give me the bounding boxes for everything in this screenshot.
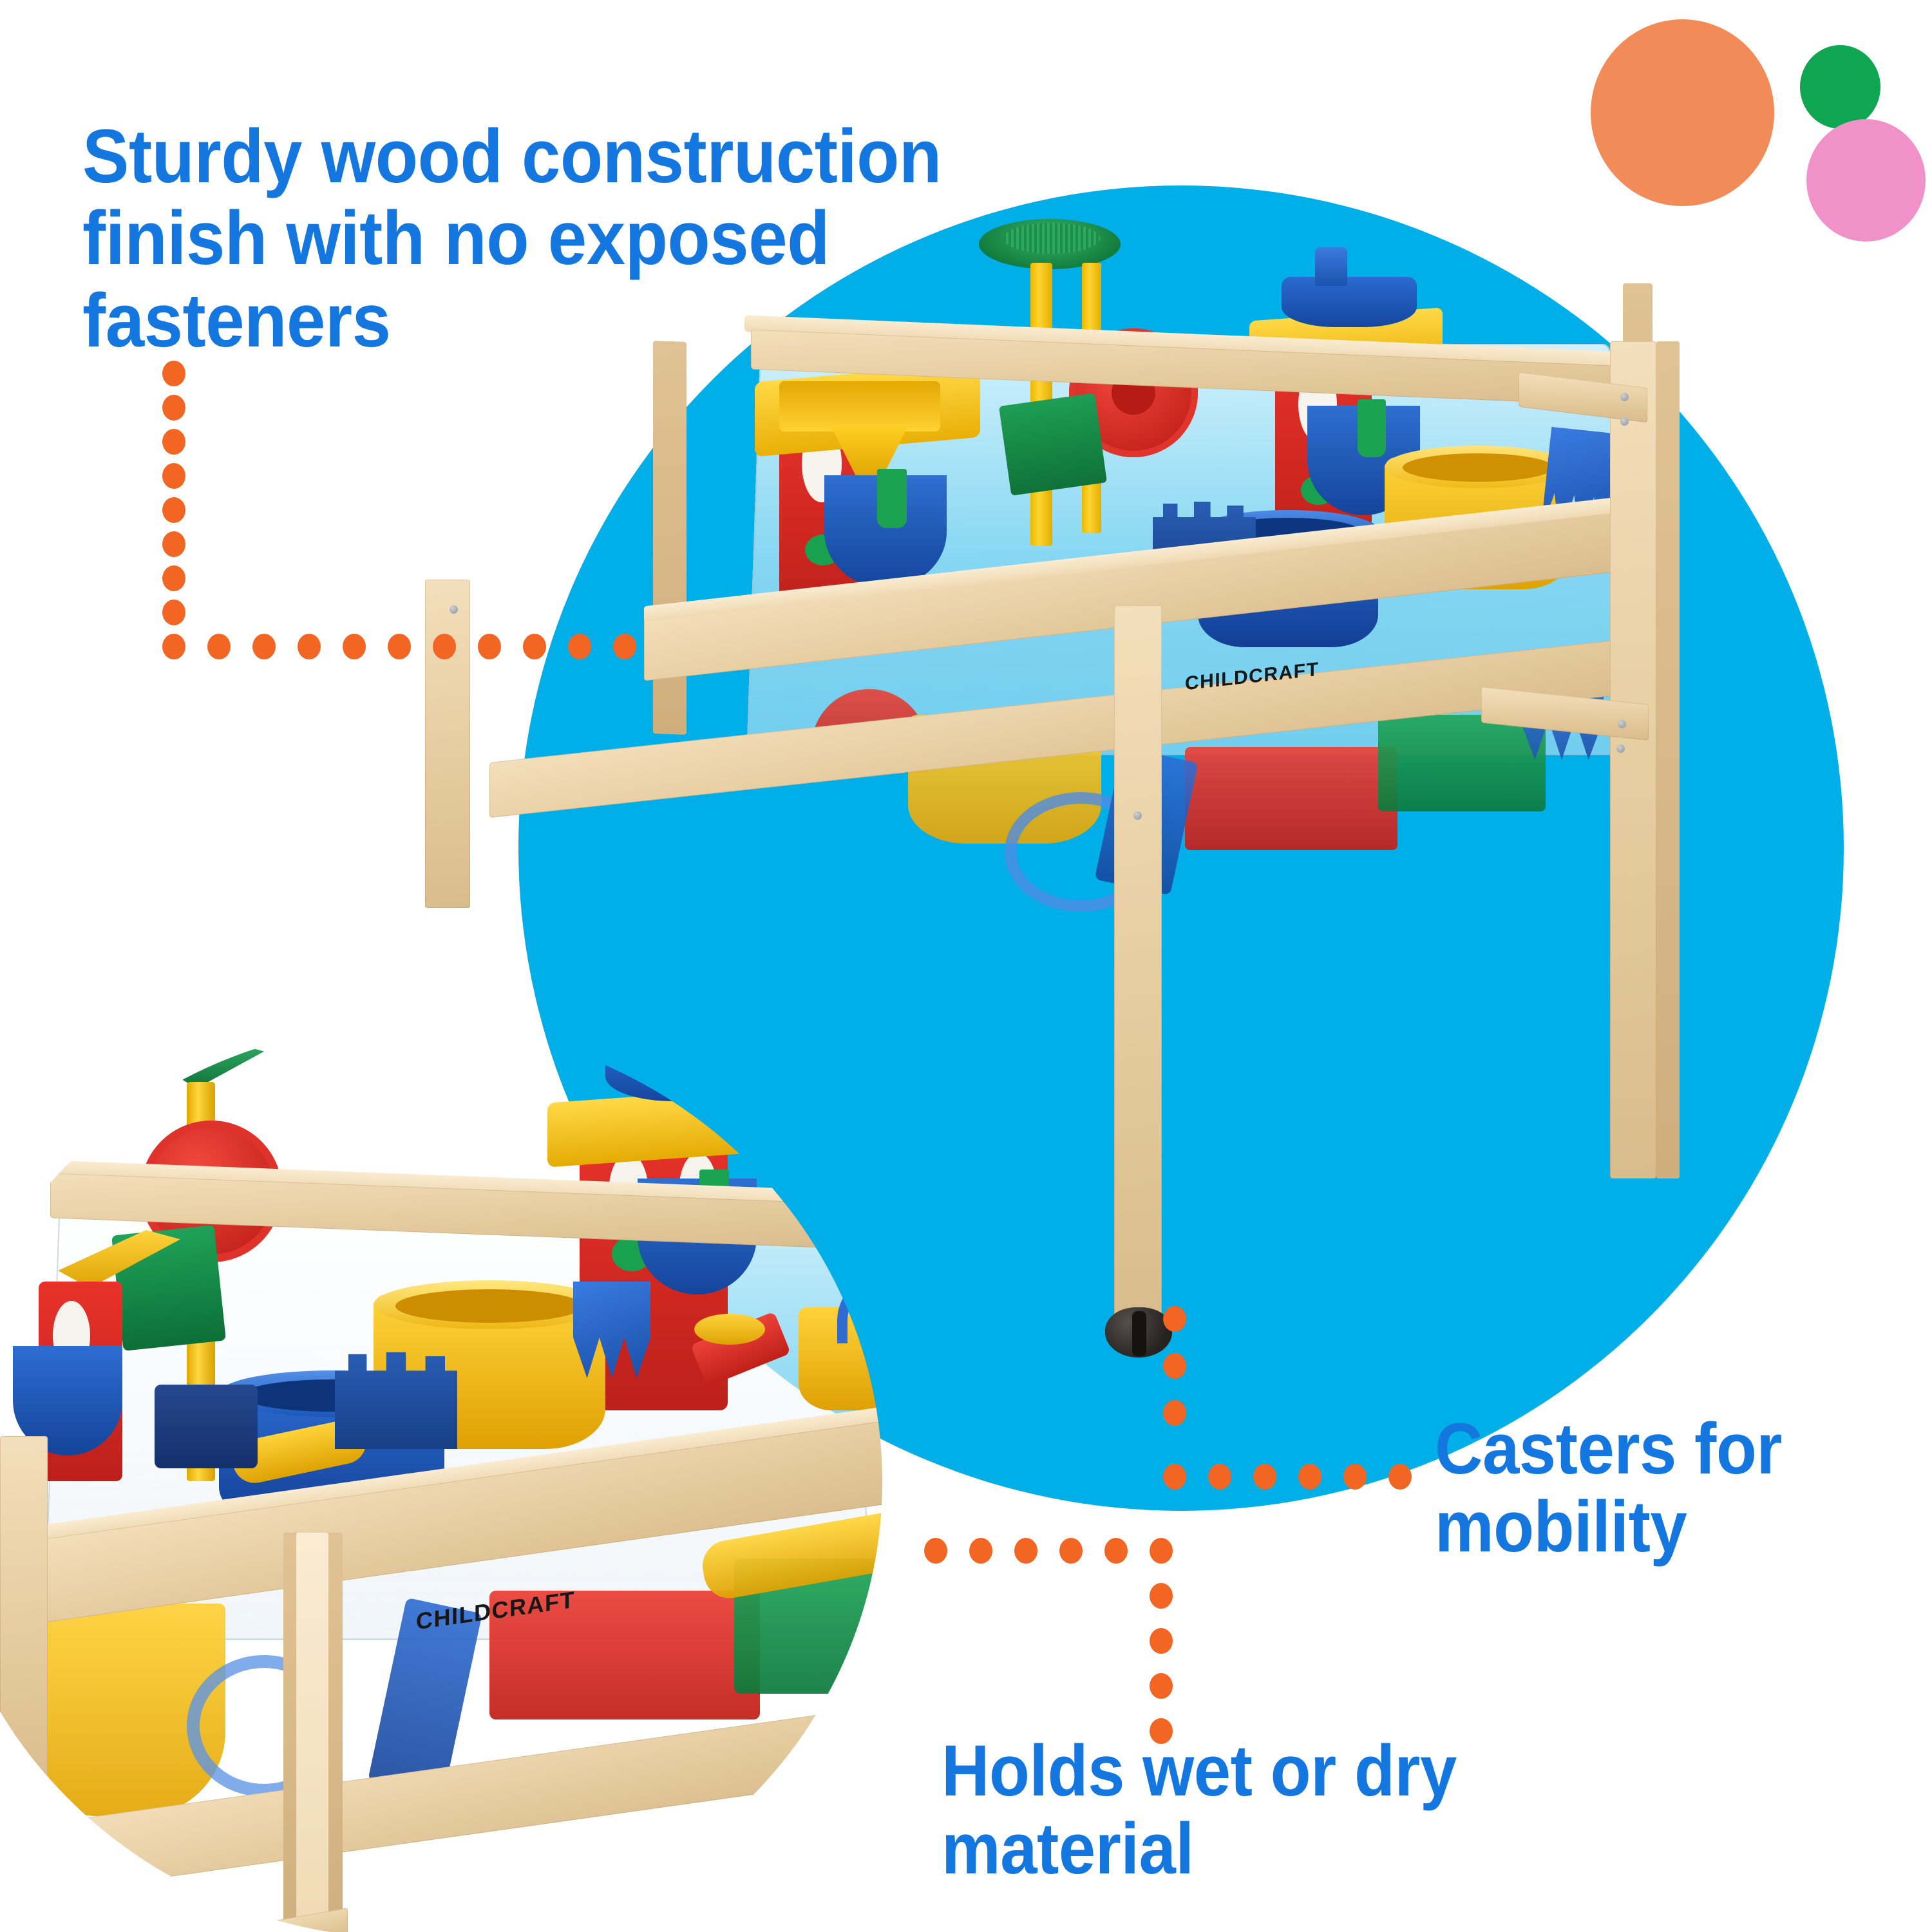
connector-dot-sturdy xyxy=(162,600,185,625)
caster-axle-front xyxy=(1132,1311,1146,1356)
inset-navy-gear xyxy=(155,1385,258,1468)
connector-dot-holds xyxy=(1014,1538,1037,1564)
inset-blue-rake xyxy=(573,1282,650,1378)
table-leg-right-rear xyxy=(1656,341,1680,1179)
inset-green-chute xyxy=(167,1043,264,1088)
toy-yellow-pail-inner xyxy=(1403,453,1553,482)
connector-dot-sturdy xyxy=(433,634,456,659)
inset-leg-left xyxy=(0,1436,48,1797)
toy-blue-boat xyxy=(1282,277,1417,327)
screw-lower-right xyxy=(1618,720,1626,728)
inset-yellow-lid xyxy=(694,1314,765,1345)
connector-dot-sturdy xyxy=(162,429,185,455)
infographic-canvas: CHILDCRAFT xyxy=(0,0,1932,1932)
connector-dot-holds xyxy=(1059,1538,1083,1564)
screw-front-center xyxy=(1133,811,1142,820)
connector-dot-sturdy xyxy=(343,634,366,659)
connector-dot-sturdy xyxy=(162,361,185,386)
connector-dot-casters xyxy=(1388,1464,1412,1490)
connector-dot-casters xyxy=(1208,1464,1231,1490)
decorative-circle-green xyxy=(1800,45,1880,129)
toy-green-sifter-mesh xyxy=(1003,223,1100,254)
screw-mid-right xyxy=(1620,417,1629,426)
table-leg-front-right xyxy=(1610,341,1656,1179)
connector-dot-sturdy xyxy=(298,634,321,659)
connector-dot-sturdy xyxy=(523,634,546,659)
connector-dot-sturdy xyxy=(162,565,185,591)
inset-leg-corner-face xyxy=(296,1533,328,1932)
toy-green-spout-right xyxy=(1358,399,1386,457)
connector-dot-casters xyxy=(1163,1353,1186,1379)
connector-dot-sturdy xyxy=(568,634,591,659)
inset-blue-castle-mold xyxy=(335,1346,457,1449)
connector-dot-casters xyxy=(1163,1306,1186,1332)
table-leg-front-left xyxy=(425,580,470,908)
toy-blue-boat-funnel xyxy=(1315,247,1347,286)
connector-dot-sturdy xyxy=(162,497,185,523)
connector-dot-sturdy xyxy=(388,634,411,659)
connector-dot-holds xyxy=(1150,1583,1173,1609)
callout-sturdy-wood-construction: Sturdy wood construction finish with no … xyxy=(82,116,971,362)
connector-dot-holds xyxy=(969,1538,992,1564)
connector-dot-casters xyxy=(1163,1400,1186,1426)
connector-dot-sturdy xyxy=(162,463,185,489)
toy-green-paddle xyxy=(999,393,1107,496)
toy-red-brick-lower xyxy=(1185,747,1397,850)
connector-dot-holds xyxy=(924,1538,947,1564)
inset-yellow-pail-inner xyxy=(395,1289,583,1323)
screw-front-left xyxy=(450,605,458,614)
connector-dot-casters xyxy=(1163,1464,1186,1490)
decorative-circle-orange xyxy=(1591,19,1774,206)
connector-dot-sturdy xyxy=(162,634,185,659)
toy-green-mold-lower xyxy=(1378,715,1546,811)
connector-dot-sturdy xyxy=(613,634,636,659)
connector-dot-sturdy xyxy=(162,395,185,421)
connector-dot-sturdy xyxy=(252,634,276,659)
connector-dot-holds xyxy=(1150,1628,1173,1654)
connector-dot-holds xyxy=(1150,1673,1173,1699)
toy-yellow-hopper-basin xyxy=(779,381,940,431)
connector-dot-sturdy xyxy=(207,634,231,659)
toy-green-spout-left xyxy=(877,469,907,528)
connector-dot-holds xyxy=(1104,1538,1128,1564)
callout-casters-for-mobility: Casters for mobility xyxy=(1435,1410,1885,1566)
connector-dot-casters xyxy=(1343,1464,1367,1490)
connector-dot-holds xyxy=(1150,1538,1173,1564)
callout-holds-wet-or-dry-material: Holds wet or dry material xyxy=(942,1732,1475,1888)
product-photo-main: CHILDCRAFT xyxy=(618,303,1880,1346)
decorative-circle-pink xyxy=(1806,119,1926,241)
screw-upper-right xyxy=(1620,393,1629,401)
screw-lower-right-2 xyxy=(1616,744,1625,753)
connector-dot-casters xyxy=(1298,1464,1321,1490)
connector-dot-sturdy xyxy=(478,634,501,659)
table-leg-front-center xyxy=(1114,605,1162,1320)
connector-dot-casters xyxy=(1253,1464,1276,1490)
connector-dot-sturdy xyxy=(162,531,185,557)
